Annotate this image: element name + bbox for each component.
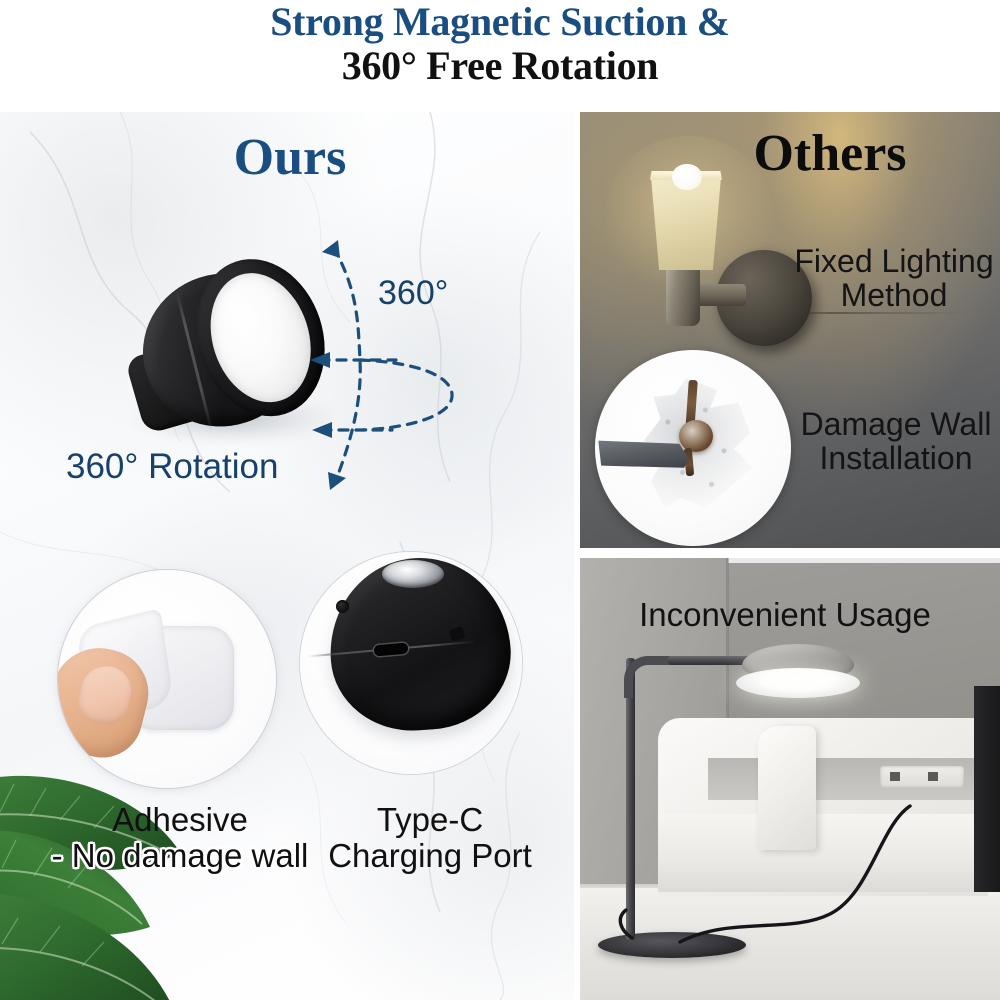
headboard-block — [758, 726, 816, 850]
rusty-screw-anchor — [679, 420, 713, 452]
caption-adhesive: Adhesive - No damage wall — [30, 802, 330, 873]
infographic-root: Strong Magnetic Suction & 360° Free Rota… — [0, 0, 1000, 1000]
caption-typec: Type-C Charging Port — [300, 802, 560, 873]
outlet-slot-right — [928, 772, 938, 781]
caption-adhesive-line-2: - No damage wall — [30, 838, 330, 874]
damage-wall-inset-circle — [595, 350, 791, 546]
lamp-head-light — [736, 668, 860, 698]
rotation-arrows-icon — [300, 222, 520, 502]
lamp-head — [736, 644, 860, 698]
dark-furniture-edge — [974, 686, 1000, 892]
header-title-line-1: Strong Magnetic Suction & — [0, 2, 1000, 42]
sconce-bulb — [672, 164, 702, 190]
lamp-pole — [626, 658, 635, 940]
ours-title: Ours — [150, 128, 430, 187]
lamp-base — [598, 932, 746, 958]
magnet-disc — [382, 560, 444, 588]
rotation-caption: 360° Rotation — [66, 447, 278, 487]
header-banner: Strong Magnetic Suction & 360° Free Rota… — [0, 0, 1000, 112]
panel-inconvenient-usage: Inconvenient Usage — [580, 558, 1000, 1000]
inconvenient-usage-caption: Inconvenient Usage — [620, 596, 950, 634]
outlet-slot-left — [890, 772, 900, 781]
headboard-lower — [658, 814, 988, 892]
damage-wall-line-2: Installation — [792, 442, 1000, 476]
typec-inset-circle — [300, 552, 522, 774]
header-title-line-2: 360° Free Rotation — [0, 46, 1000, 86]
power-button — [336, 600, 349, 613]
panel-divider-horizontal — [574, 548, 1000, 558]
panel-ours-column: Ours — [0, 112, 574, 1000]
damage-wall-text: Damage Wall Installation — [792, 408, 1000, 476]
adhesive-inset-circle — [58, 570, 276, 788]
fixed-lighting-text: Fixed Lighting Method — [788, 245, 1000, 313]
fixed-lighting-line-1: Fixed Lighting — [788, 245, 1000, 279]
damage-wall-line-1: Damage Wall — [792, 408, 1000, 442]
degree-label: 360° — [378, 274, 448, 313]
panel-others: Others Fixed Lighting Method Damage Wall… — [580, 112, 1000, 548]
fixed-lighting-line-2: Method — [788, 279, 1000, 313]
caption-typec-line-1: Type-C — [300, 802, 560, 838]
caption-typec-line-2: Charging Port — [300, 838, 560, 874]
caption-adhesive-line-1: Adhesive — [30, 802, 330, 838]
